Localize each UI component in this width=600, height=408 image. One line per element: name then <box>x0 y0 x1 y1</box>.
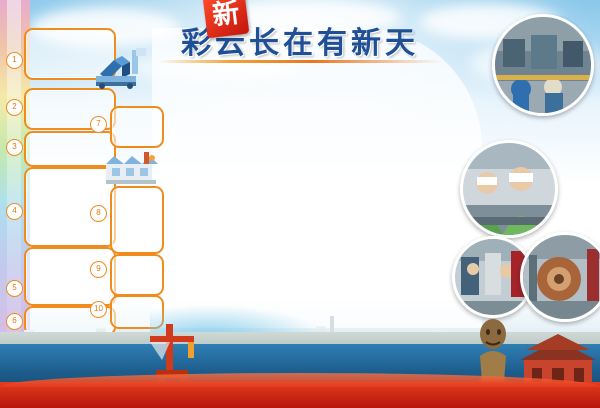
photo-factory-production-line <box>492 14 594 116</box>
title-accent-seal: 新 <box>203 0 250 38</box>
content-box-number-8: 8 <box>90 205 107 222</box>
poster-canvas: 彩云长在有新天 新 1 2 3 4 5 6 7 8 9 10 <box>0 0 600 408</box>
content-box-number-2: 2 <box>6 99 23 116</box>
photo-workers-electronics-assembly <box>460 140 558 238</box>
title-underline <box>158 60 442 63</box>
factory-building-illustration <box>100 150 162 186</box>
poster-title: 彩云长在有新天 <box>150 18 450 64</box>
content-box-number-9: 9 <box>90 261 107 278</box>
conveyor-machine-illustration <box>92 44 150 92</box>
photo-heavy-machinery-workshop <box>520 232 600 322</box>
red-ribbon-banner <box>0 382 600 408</box>
content-box-7[interactable] <box>110 106 164 148</box>
title-accent-char: 新 <box>203 0 250 38</box>
content-box-number-5: 5 <box>6 280 23 297</box>
content-box-number-1: 1 <box>6 52 23 69</box>
content-box-number-3: 3 <box>6 139 23 156</box>
title-text: 彩云长在有新天 <box>150 18 450 62</box>
content-box-number-4: 4 <box>6 203 23 220</box>
content-box-8[interactable] <box>110 186 164 254</box>
content-box-number-7: 7 <box>90 116 107 133</box>
